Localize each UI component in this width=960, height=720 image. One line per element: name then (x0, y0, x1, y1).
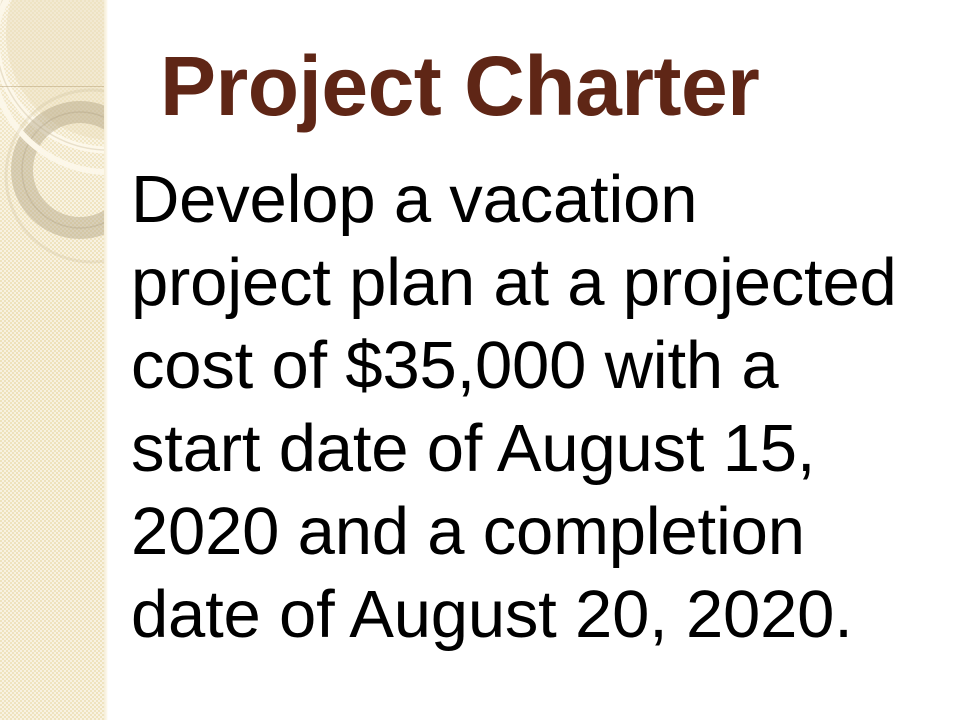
sidebar-ring-decoration (0, 0, 108, 720)
body-line: Develop a vacation (131, 158, 943, 241)
body-line: cost of $35,000 with a (131, 324, 943, 407)
body-line: start date of August 15, (131, 407, 943, 490)
body-line: project plan at a projected (131, 241, 943, 324)
slide-canvas: Project Charter Develop a vacation proje… (0, 0, 960, 720)
sidebar-right-edge (104, 0, 108, 720)
decorative-sidebar (0, 0, 108, 720)
slide-title: Project Charter (160, 44, 860, 128)
body-line: 2020 and a completion (131, 490, 943, 573)
slide-body-text: Develop a vacation project plan at a pro… (131, 158, 943, 656)
sidebar-seam-line (0, 86, 108, 87)
body-line: date of August 20, 2020. (131, 573, 943, 656)
